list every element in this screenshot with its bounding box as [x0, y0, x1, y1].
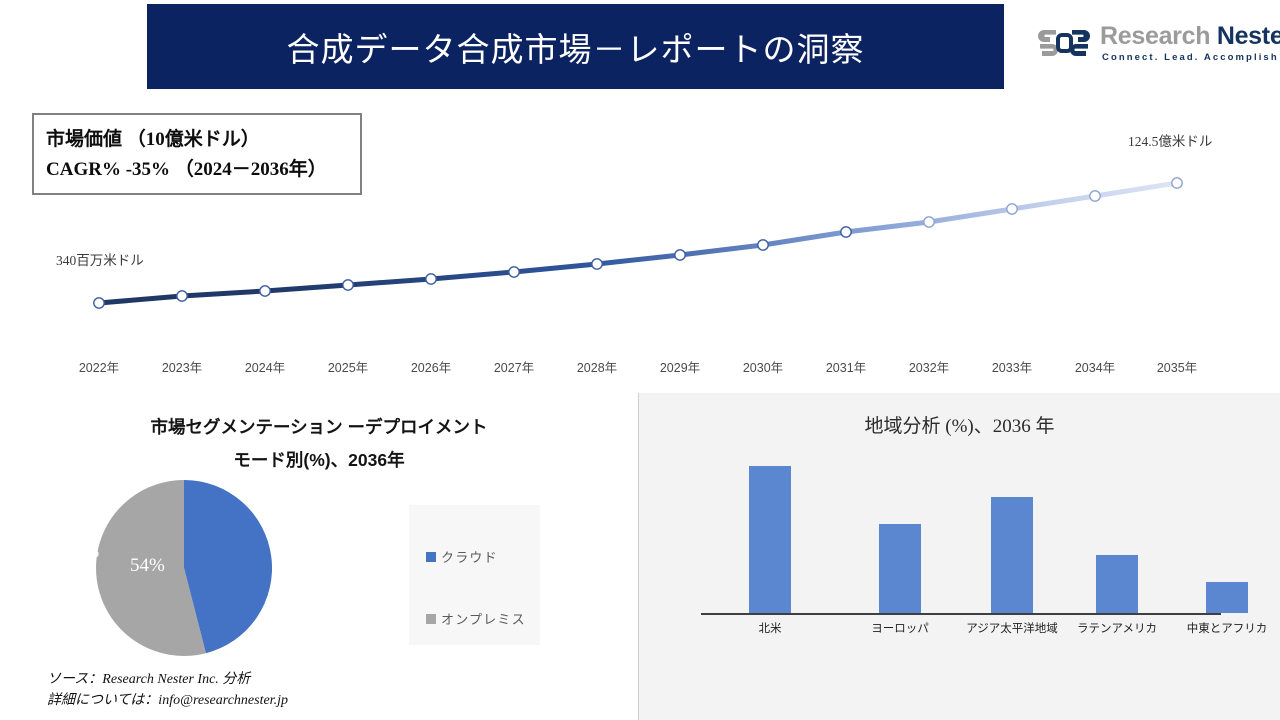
brand-logo: Research Nester Connect. Lead. Accomplis…	[1036, 24, 1256, 76]
line-marker	[177, 291, 187, 301]
legend-item: クラウド	[426, 547, 498, 566]
bar-chart-plot	[701, 453, 1221, 613]
x-axis-tick-label: 2030年	[743, 357, 783, 376]
line-end-value-label: 124.5億米ドル	[1128, 130, 1212, 150]
bar-first-value-label: 33%	[68, 542, 99, 562]
pie-chart: 54%	[96, 480, 272, 656]
legend-label: オンプレミス	[441, 609, 526, 628]
bar-column	[991, 497, 1033, 613]
line-start-value-label: 340百万米ドル	[56, 249, 144, 269]
bar-x-axis-label: ヨーロッパ	[871, 620, 929, 636]
bar-chart-baseline	[701, 613, 1221, 615]
line-marker	[841, 227, 851, 237]
legend-swatch-icon	[426, 614, 436, 624]
bar-x-axis-label: ラテンアメリカ	[1077, 620, 1157, 636]
bar-chart-x-axis: 北米ヨーロッパアジア太平洋地域ラテンアメリカ中東とアフリカ	[639, 620, 1280, 640]
bar-x-axis-label: 中東とアフリカ	[1187, 620, 1268, 636]
x-axis-tick-label: 2033年	[992, 357, 1032, 376]
x-axis-tick-label: 2026年	[411, 357, 451, 376]
bar-x-axis-label: アジア太平洋地域	[966, 620, 1058, 636]
line-marker	[1090, 191, 1100, 201]
line-chart-svg	[0, 100, 1280, 390]
legend-item: オンプレミス	[426, 609, 526, 628]
logo-word-nester: Nester	[1217, 22, 1280, 50]
x-axis-tick-label: 2035年	[1157, 357, 1197, 376]
x-axis-tick-label: 2032年	[909, 357, 949, 376]
line-marker	[509, 267, 519, 277]
line-marker	[94, 298, 104, 308]
line-chart-x-axis: 2022年2023年2024年2025年2026年2027年2028年2029年…	[0, 357, 1280, 381]
bar-column	[749, 466, 791, 613]
title-banner: 合成データ合成市場－レポートの洞察	[147, 4, 1004, 89]
source-line-1: ソース：Research Nester Inc. 分析	[47, 669, 288, 690]
line-marker	[426, 274, 436, 284]
trend-markers	[94, 178, 1182, 308]
pie-slices	[96, 480, 272, 656]
legend-swatch-icon	[426, 552, 436, 562]
pie-title-line-1: 市場セグメンテーション ーデプロイメント	[150, 417, 487, 437]
pie-title-line-2: モード別(%)、2036年	[0, 444, 638, 477]
x-axis-tick-label: 2023年	[162, 357, 202, 376]
line-marker	[758, 240, 768, 250]
x-axis-tick-label: 2025年	[328, 357, 368, 376]
line-marker	[1007, 204, 1017, 214]
linked-chain-logo-icon	[1036, 28, 1092, 58]
line-marker	[675, 250, 685, 260]
line-marker	[260, 286, 270, 296]
legend-label: クラウド	[441, 547, 498, 566]
pie-chart-svg	[96, 480, 272, 656]
logo-word-research: Research	[1100, 22, 1217, 50]
x-axis-tick-label: 2031年	[826, 357, 866, 376]
bar-column	[879, 524, 921, 613]
pie-slice-label: 54%	[130, 555, 165, 577]
pie-chart-legend: クラウドオンプレミス	[409, 505, 540, 645]
pie-chart-title: 市場セグメンテーション ーデプロイメント モード別(%)、2036年	[0, 411, 638, 477]
line-marker	[343, 280, 353, 290]
regional-analysis-panel: 地域分析 (%)、2036 年 北米ヨーロッパアジア太平洋地域ラテンアメリカ中東…	[638, 393, 1280, 720]
trend-line	[99, 183, 1177, 303]
bar-chart-title: 地域分析 (%)、2036 年	[639, 411, 1280, 438]
x-axis-tick-label: 2029年	[660, 357, 700, 376]
logo-wordmark: Research Nester	[1100, 22, 1280, 51]
line-marker	[1172, 178, 1182, 188]
x-axis-tick-label: 2024年	[245, 357, 285, 376]
x-axis-tick-label: 2028年	[577, 357, 617, 376]
x-axis-tick-label: 2027年	[494, 357, 534, 376]
source-line-2: 詳細については：info@researchnester.jp	[47, 690, 288, 711]
logo-tagline: Connect. Lead. Accomplish	[1102, 52, 1279, 63]
bar-x-axis-label: 北米	[759, 620, 782, 636]
market-growth-line-chart	[0, 100, 1280, 390]
x-axis-tick-label: 2034年	[1075, 357, 1115, 376]
source-note: ソース：Research Nester Inc. 分析 詳細については：info…	[47, 669, 288, 711]
x-axis-tick-label: 2022年	[79, 357, 119, 376]
page-title: 合成データ合成市場－レポートの洞察	[287, 23, 865, 71]
line-marker	[592, 259, 602, 269]
bar-column	[1206, 582, 1248, 613]
bar-column	[1096, 555, 1138, 613]
line-marker	[924, 217, 934, 227]
